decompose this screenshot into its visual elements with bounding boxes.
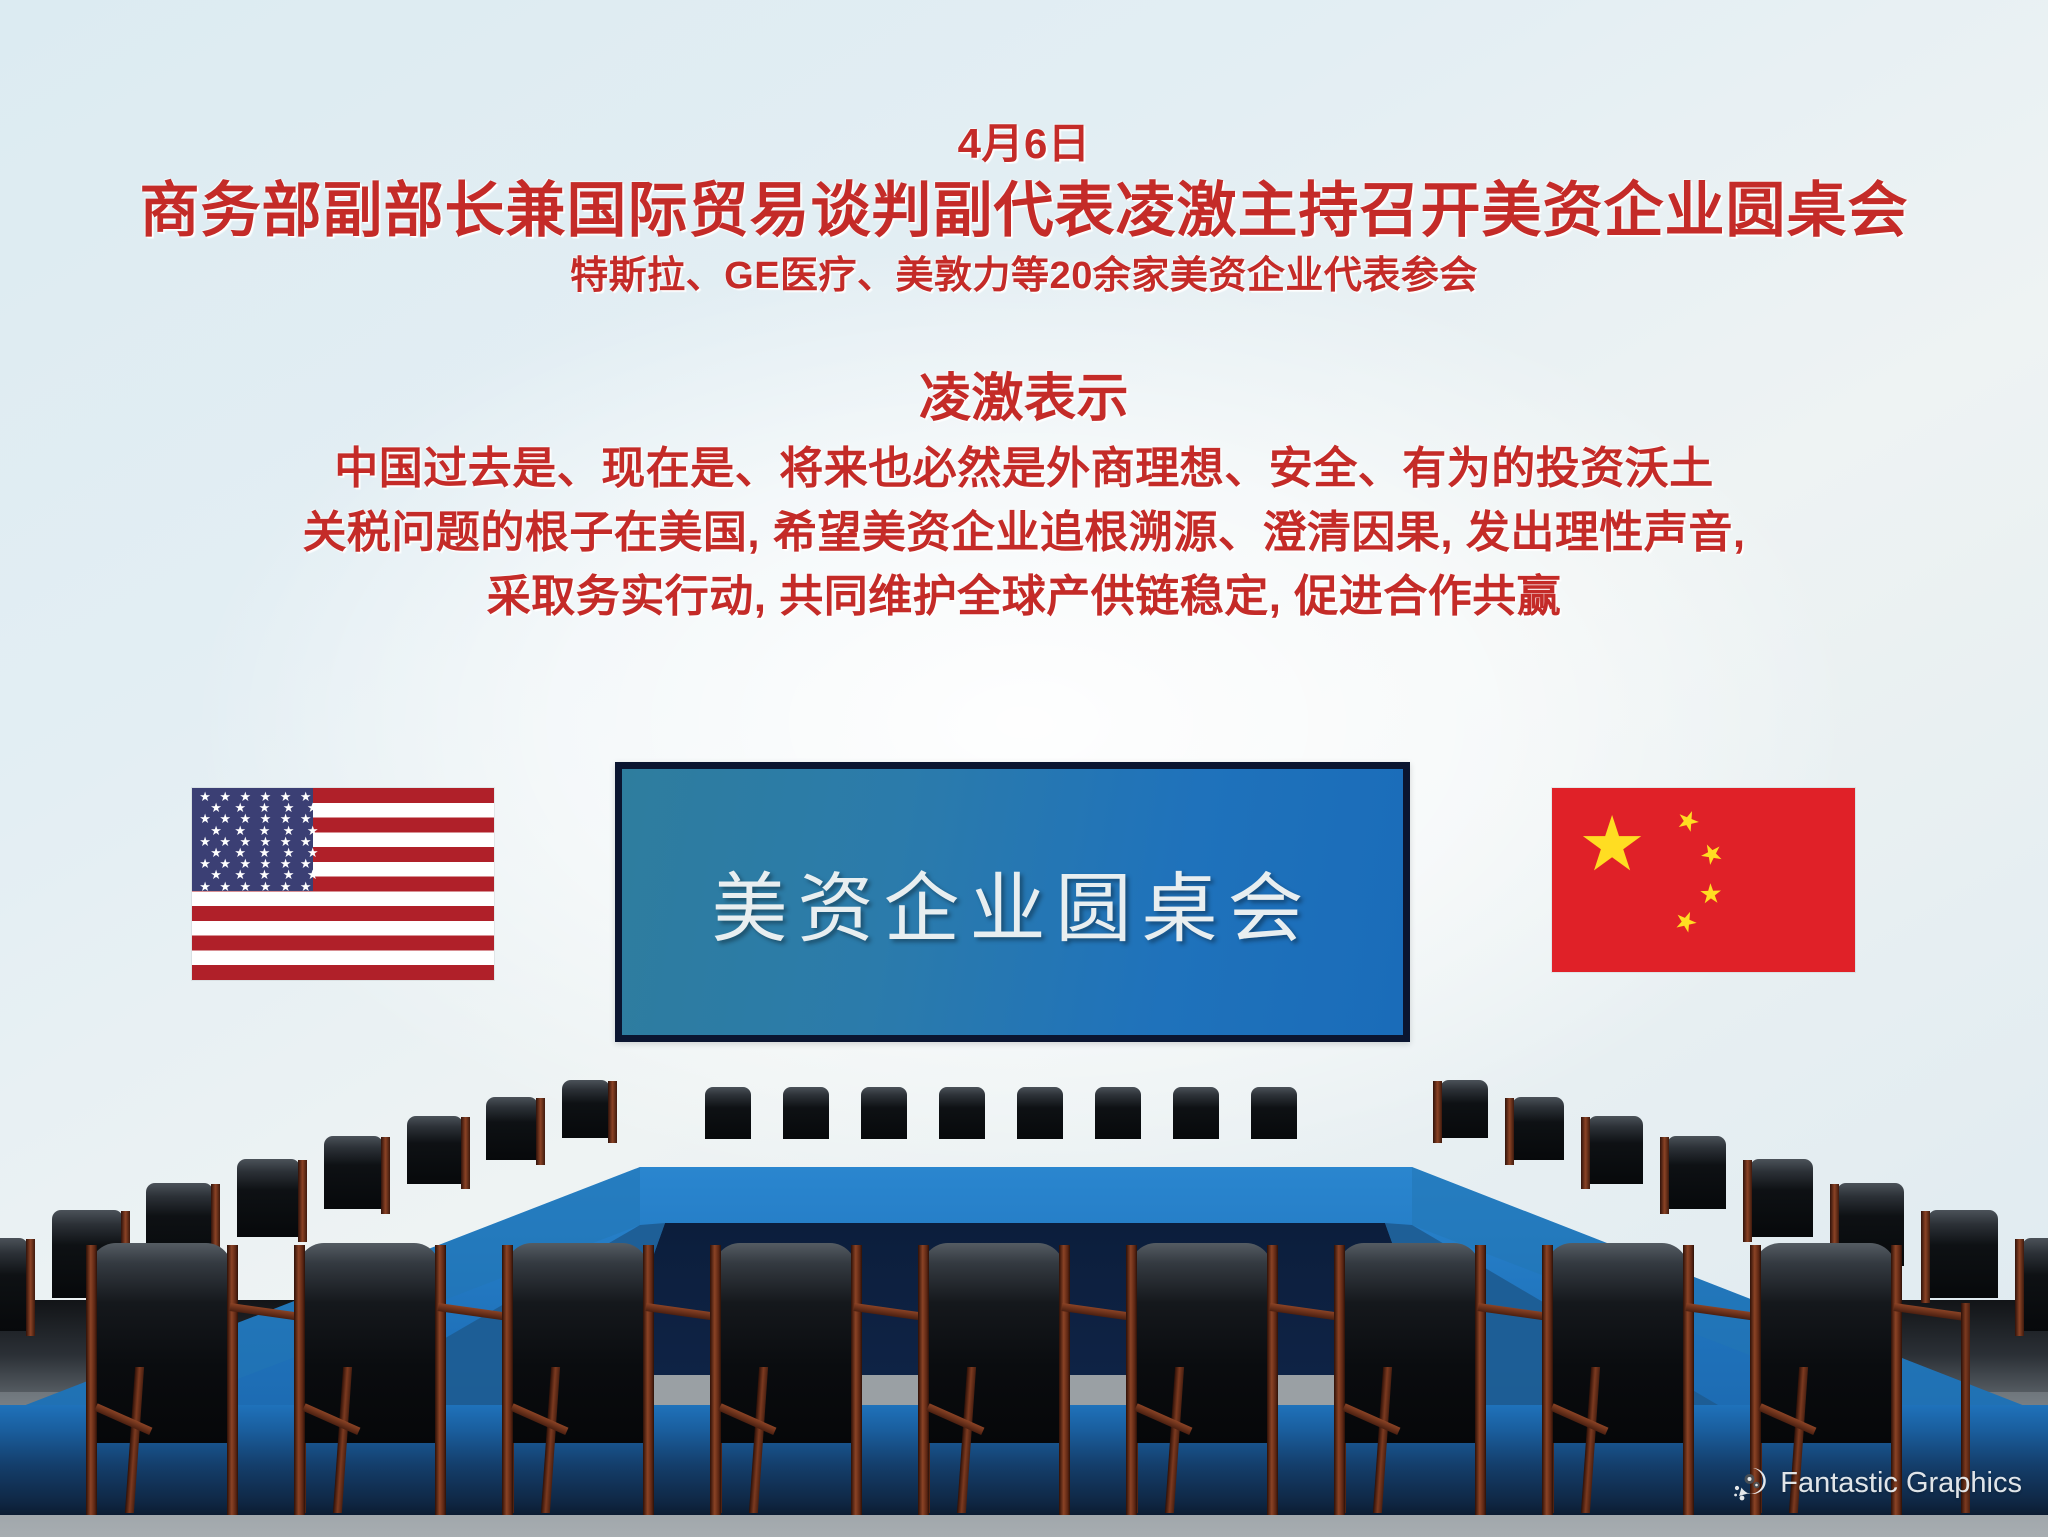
cn-flag-small-star-2: ★ (1696, 838, 1729, 871)
chair-post (227, 1245, 238, 1515)
watermark-label: Fantastic Graphics (1780, 1467, 2022, 1500)
us-flag-star: ★ (199, 882, 211, 892)
cn-flag-small-star-1: ★ (1673, 806, 1704, 835)
chair-near-1 (90, 1243, 232, 1443)
us-flag-star: ★ (199, 859, 211, 869)
cn-flag: ★ ★ ★ ★ ★ (1552, 788, 1855, 972)
screen-title-text: 美资企业圆桌会 (712, 847, 1314, 957)
cn-flag-small-star-4: ★ (1674, 909, 1698, 935)
presentation-screen: 美资企业圆桌会 (615, 762, 1410, 1042)
quote-line-2: 关税问题的根子在美国, 希望美资企业追根溯源、澄清因果, 发出理性声音, (0, 496, 2048, 560)
chair-post (851, 1245, 862, 1515)
cn-flag-small-star-3: ★ (1697, 879, 1726, 909)
us-flag-star: ★ (199, 792, 211, 802)
chair-post (86, 1245, 97, 1515)
us-flag-star: ★ (199, 814, 211, 824)
quote-line-3: 采取务实行动, 共同维护全球产供链稳定, 促进合作共赢 (0, 560, 2048, 624)
chair-armrest (229, 1303, 300, 1321)
us-flag-canton: ★★★★★★★★★★★★★★★★★★★★★★★★★★★★★★★★★★★★★★★★… (192, 788, 313, 891)
us-flag-star: ★ (300, 882, 312, 892)
us-flag-star: ★ (239, 882, 251, 892)
chair-near-2 (298, 1243, 440, 1443)
us-flag: ★★★★★★★★★★★★★★★★★★★★★★★★★★★★★★★★★★★★★★★★… (192, 788, 494, 980)
headline: 商务部副部长兼国际贸易谈判副代表凌激主持召开美资企业圆桌会 (0, 162, 2048, 249)
chair-near-5 (922, 1243, 1064, 1443)
chair-armrest (1477, 1303, 1548, 1321)
chair-armrest (1269, 1303, 1340, 1321)
cn-flag-large-star: ★ (1578, 814, 1646, 876)
chair-post (1059, 1245, 1070, 1515)
chair-post (294, 1245, 305, 1515)
chair-post (1683, 1245, 1694, 1515)
chair-armrest (1893, 1303, 1964, 1321)
chair-near-6 (1130, 1243, 1272, 1443)
us-flag-star: ★ (260, 882, 272, 892)
chair-near-3 (506, 1243, 648, 1443)
us-flag-star: ★ (199, 837, 211, 847)
chair-post (1542, 1245, 1553, 1515)
chair-post (502, 1245, 513, 1515)
chair-post (1475, 1245, 1486, 1515)
chair-post (1126, 1245, 1137, 1515)
chair-near-7 (1338, 1243, 1480, 1443)
us-flag-star: ★ (280, 882, 292, 892)
chair-post (1267, 1245, 1278, 1515)
watermark: Fantastic Graphics (1733, 1465, 2022, 1501)
chair-post (435, 1245, 446, 1515)
chair-near-9 (1754, 1243, 1896, 1443)
chair-armrest (853, 1303, 924, 1321)
chair-armrest (437, 1303, 508, 1321)
speaker-line: 凌激表示 (0, 356, 2048, 431)
us-flag-star: ★ (219, 882, 231, 892)
poster-canvas: 4月6日 商务部副部长兼国际贸易谈判副代表凌激主持召开美资企业圆桌会 特斯拉、G… (0, 0, 2048, 1537)
chair-post (710, 1245, 721, 1515)
chair-post (643, 1245, 654, 1515)
chair-near-8 (1546, 1243, 1688, 1443)
chair-near-4 (714, 1243, 856, 1443)
chair-armrest (645, 1303, 716, 1321)
chair-armrest (1685, 1303, 1756, 1321)
us-flag-star-row: ★★★★★★ (192, 882, 319, 892)
chair-post (918, 1245, 929, 1515)
chair-armrest (1061, 1303, 1132, 1321)
subline: 特斯拉、GE医疗、美敦力等20余家美资企业代表参会 (0, 244, 2048, 299)
chair-post (1334, 1245, 1345, 1515)
gear-chat-bubble-icon (1733, 1465, 1769, 1501)
quote-line-1: 中国过去是、现在是、将来也必然是外商理想、安全、有为的投资沃土 (0, 432, 2048, 496)
